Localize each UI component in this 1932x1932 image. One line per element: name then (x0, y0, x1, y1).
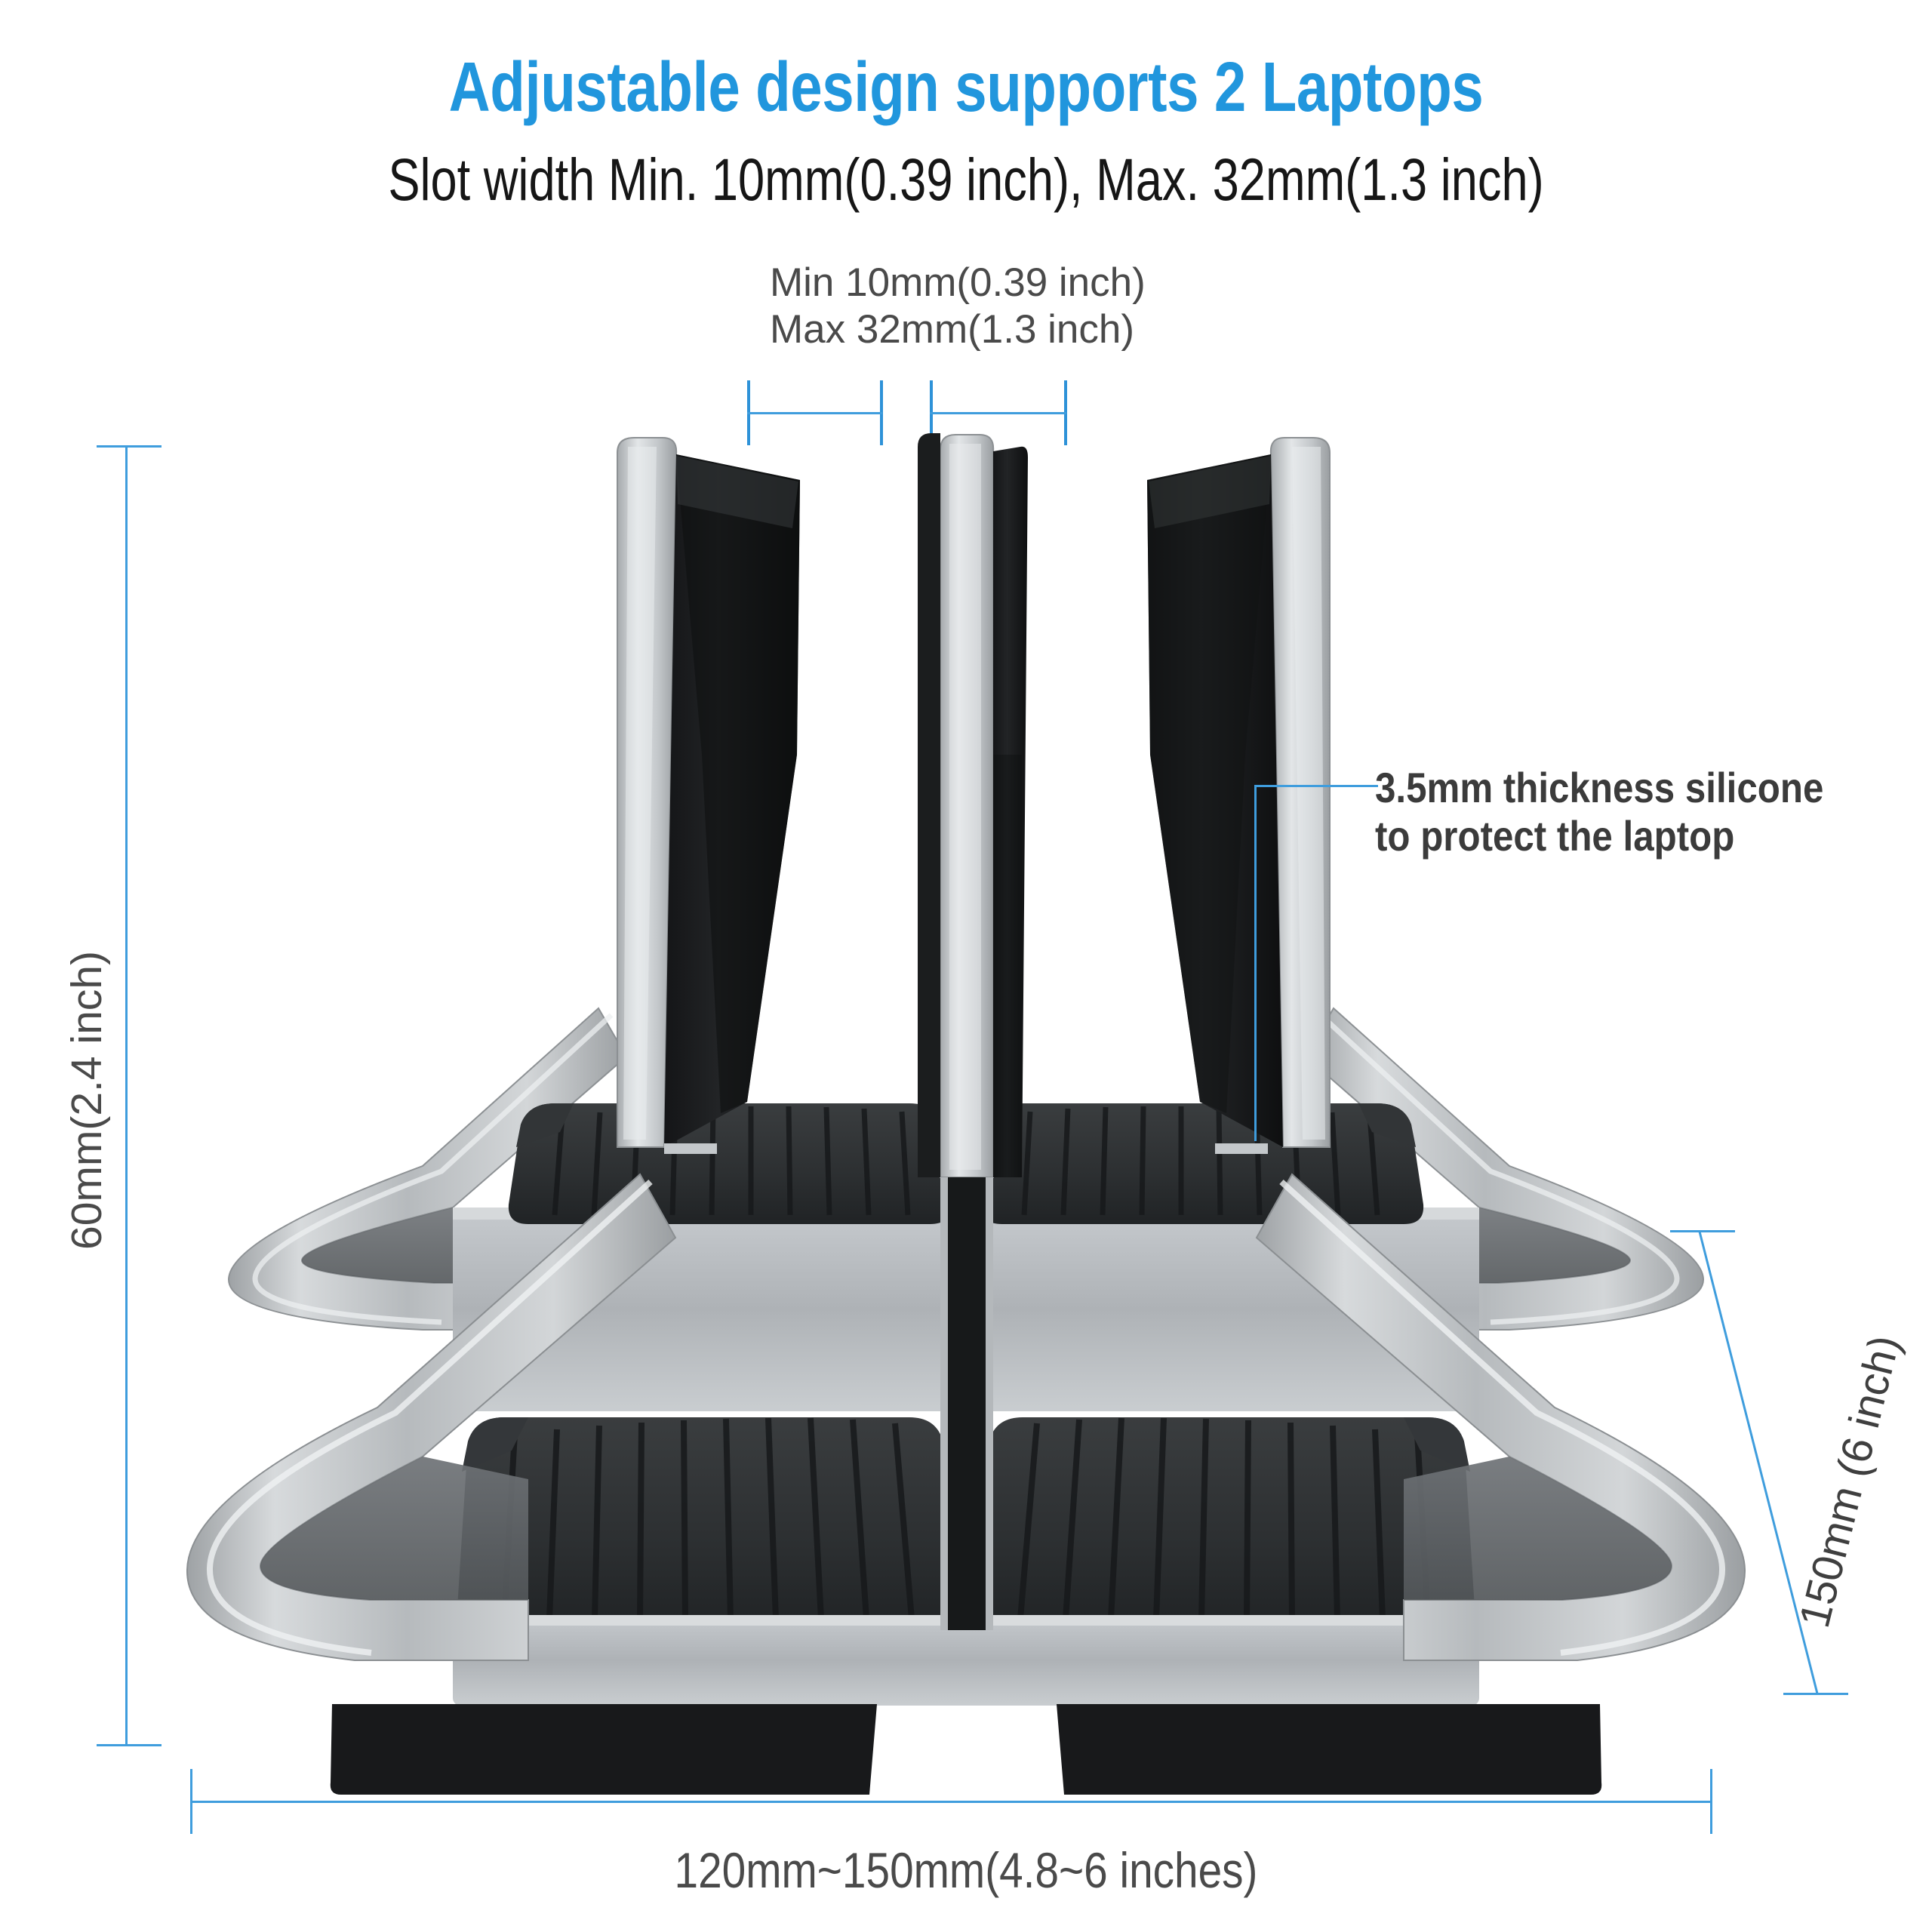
post-right (1147, 438, 1330, 1147)
silicone-callout: 3.5mm thickness silicone to protect the … (1375, 764, 1823, 860)
silicone-leader-horizontal (1254, 785, 1378, 787)
post-left-foot (664, 1143, 717, 1154)
width-dimension-line (190, 1801, 1712, 1803)
silicone-pad-upper-left (509, 1103, 951, 1224)
silicone-pad-lower-right (977, 1417, 1475, 1630)
height-tick-bottom (97, 1744, 162, 1746)
rubber-foot-right (1057, 1704, 1601, 1795)
post-right-foot (1215, 1143, 1268, 1154)
rubber-foot-left (331, 1704, 877, 1795)
height-dimension-label: 60mm(2.4 inch) (62, 859, 112, 1342)
silicone-pad-lower-left (457, 1417, 955, 1630)
silicone-pad-upper-right (981, 1103, 1423, 1224)
laptop-stand-illustration (0, 0, 1932, 1932)
height-tick-top (97, 445, 162, 448)
width-dimension-label: 120mm~150mm(4.8~6 inches) (135, 1841, 1797, 1899)
silicone-callout-line1: 3.5mm thickness silicone (1375, 764, 1823, 812)
height-dimension-line (125, 445, 128, 1745)
post-left (617, 438, 800, 1147)
product-dimension-diagram: Adjustable design supports 2 Laptops Slo… (0, 0, 1932, 1932)
silicone-callout-line2: to protect the laptop (1375, 812, 1823, 860)
silicone-leader-vertical (1254, 785, 1257, 1141)
depth-tick-top (1670, 1230, 1735, 1232)
